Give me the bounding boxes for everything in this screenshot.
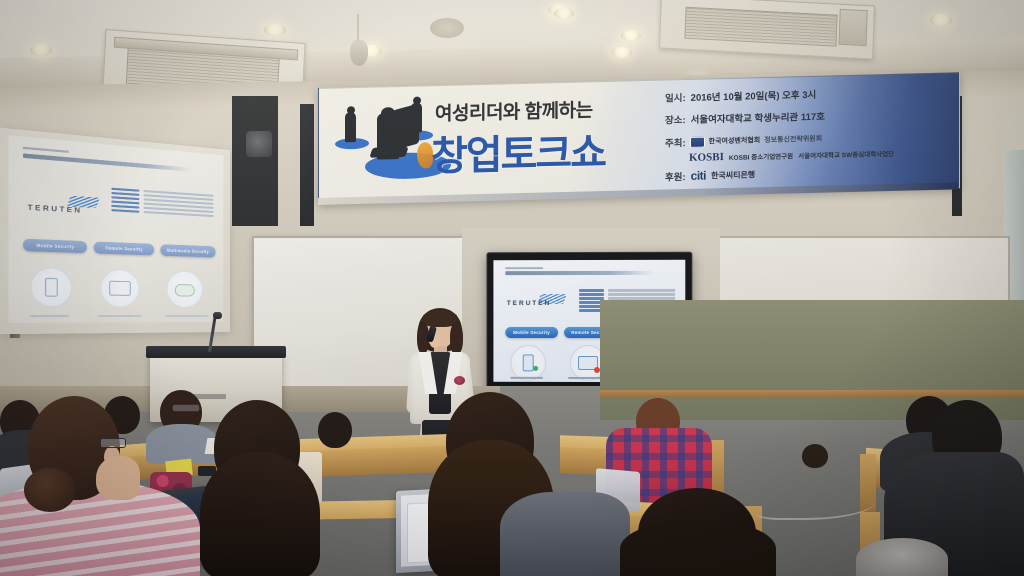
slide-left-icon-cloud bbox=[166, 271, 202, 309]
downlight-7 bbox=[554, 8, 574, 19]
slide-left-pill-multimedia: Multimedia Security bbox=[160, 244, 216, 257]
status-dot-green bbox=[533, 366, 538, 371]
banner-figure-legs bbox=[369, 147, 408, 158]
banner-host-label: 주최: bbox=[665, 135, 686, 150]
kosbi-logo: KOSBI bbox=[689, 151, 724, 164]
downlight-8 bbox=[621, 30, 641, 41]
lectern-top-surface bbox=[146, 346, 286, 358]
audience-foreground-pink-arm bbox=[96, 456, 140, 500]
citi-logo: citi bbox=[691, 169, 706, 183]
slide-subheadline bbox=[505, 267, 543, 269]
banner-host-3: KOSBI 중소기업연구원 bbox=[729, 150, 793, 162]
status-dot-red bbox=[594, 367, 600, 373]
banner-date-label: 일시: bbox=[665, 90, 686, 105]
wall-speaker bbox=[246, 131, 272, 157]
audience-gray-hair bbox=[856, 538, 948, 576]
projection-screen-left-surface: TERUTEN Mobile Security Remote Security … bbox=[8, 135, 223, 323]
slide-left-info-table bbox=[111, 187, 213, 218]
banner-place-value: 서울여자대학교 학생누리관 117호 bbox=[691, 109, 825, 126]
audience-foreground-center-hair bbox=[200, 452, 320, 576]
slide-pill-mobile-security: Mobile Security bbox=[505, 327, 558, 338]
audience-head-small-1 bbox=[318, 412, 352, 448]
projection-screen-left: TERUTEN Mobile Security Remote Security … bbox=[0, 128, 230, 335]
slide-left-caption-2 bbox=[98, 314, 141, 316]
audience-glasses-icon bbox=[172, 404, 200, 412]
slide-left-icon-laptop bbox=[101, 269, 140, 308]
slide-left-caption-3 bbox=[164, 314, 208, 316]
slide-left-subheadline bbox=[23, 147, 69, 153]
banner-date-value: 2016년 10월 20일(목) 오후 3시 bbox=[691, 87, 817, 104]
wall-dark-strip-mid bbox=[300, 104, 314, 226]
slide-left-pill-remote: Remote Security bbox=[94, 242, 154, 256]
banner-host-4: 서울여자대학교 SW중심대학사업단 bbox=[798, 148, 894, 160]
banner-headline-large: 창업토크쇼 bbox=[431, 118, 681, 182]
audience-foreground-right-jacket bbox=[500, 492, 630, 576]
phone-icon bbox=[523, 355, 534, 372]
speaker-corsage bbox=[454, 376, 465, 385]
downlight-6 bbox=[612, 47, 632, 58]
gooseneck-microphone-icon bbox=[213, 312, 222, 319]
olive-wall-trim bbox=[600, 390, 1024, 397]
audience-foreground-pink-bun bbox=[24, 468, 76, 512]
wall-dark-panel-left bbox=[232, 96, 278, 226]
audience-head-small-2 bbox=[802, 444, 828, 468]
audience-foreground-farright-hair bbox=[620, 520, 776, 576]
teruten-wordmark-center: TERUTEN bbox=[507, 300, 551, 307]
banner-place-label: 장소: bbox=[665, 112, 686, 127]
pendant-cable bbox=[357, 14, 359, 42]
ceiling-pendant-speaker bbox=[350, 40, 368, 66]
banner-host-2: 정보통신전략위원회 bbox=[764, 134, 822, 145]
banner-sponsor-label: 후원: bbox=[665, 169, 686, 184]
lecture-hall-photo: 여성리더와 함께하는 창업토크쇼 일시: 2016년 10월 20일(목) 오후… bbox=[0, 0, 1024, 576]
audience-foreground-pink-glasses-icon bbox=[100, 438, 126, 448]
downlight-1 bbox=[30, 44, 52, 56]
banner-figure-right bbox=[411, 102, 422, 132]
slide-caption-1 bbox=[511, 376, 543, 378]
downlight-9 bbox=[930, 14, 952, 26]
downlight-3 bbox=[264, 24, 286, 36]
banner-host-1: 한국여성벤처협회 bbox=[709, 135, 761, 146]
slide-left-headline bbox=[23, 153, 192, 171]
slide-left-pill-mobile: Mobile Security bbox=[23, 239, 87, 254]
banner-sponsor-name: 한국씨티은행 bbox=[711, 169, 755, 181]
banner-info-block: 일시: 2016년 10월 20일(목) 오후 3시 장소: 서울여자대학교 학… bbox=[665, 84, 949, 184]
speaker-hair-right bbox=[450, 322, 463, 355]
slide-headline bbox=[505, 271, 655, 275]
slide-left-icon-phone bbox=[30, 267, 72, 307]
banner-figure-left bbox=[345, 112, 356, 142]
kovwa-logo-icon bbox=[690, 136, 705, 147]
slide-left-caption-1 bbox=[30, 314, 69, 316]
ceiling-speaker-grille bbox=[430, 18, 464, 38]
